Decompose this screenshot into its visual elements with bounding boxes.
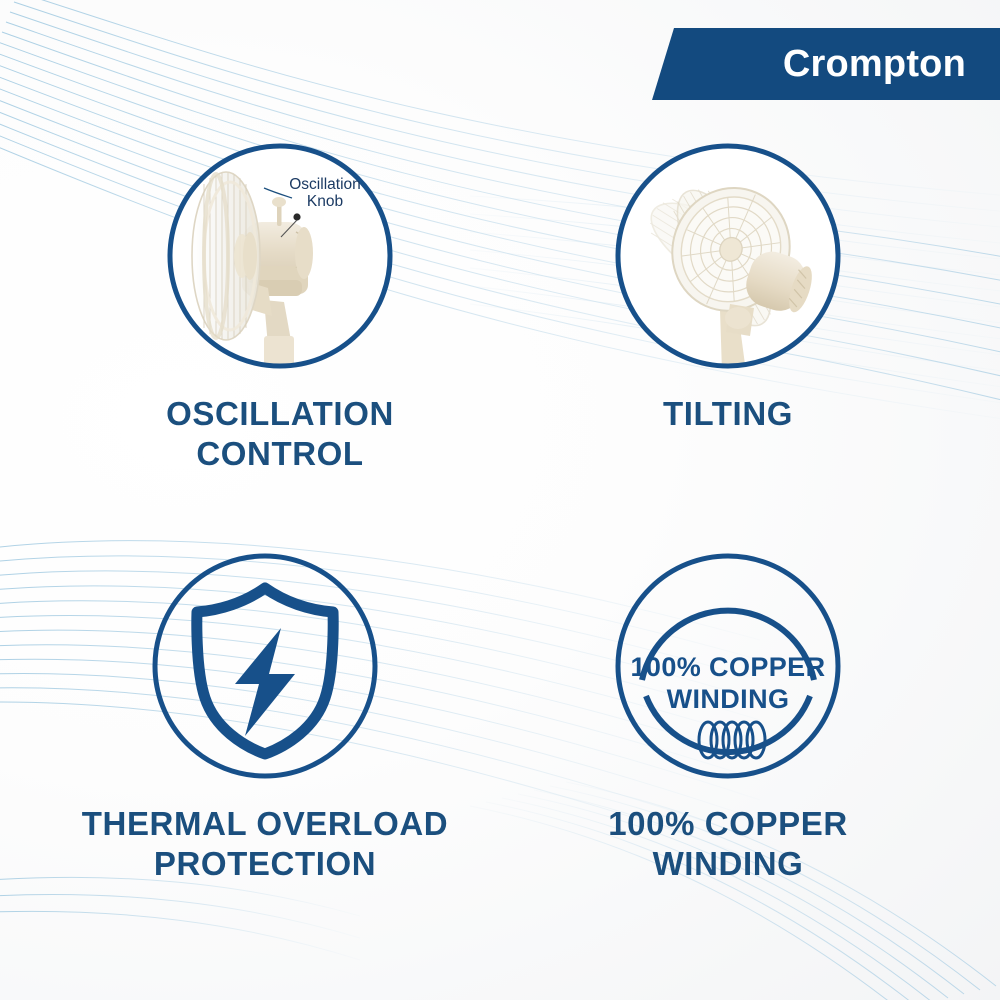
feature-caption: TILTING	[478, 394, 978, 434]
fan-tilt-positions-photo	[612, 140, 844, 372]
bolt-icon	[235, 628, 295, 736]
feature-caption: THERMAL OVERLOAD PROTECTION	[15, 804, 515, 885]
product-feature-infographic: Crompton	[0, 0, 1000, 1000]
feature-thermal-overload-protection: THERMAL OVERLOAD PROTECTION	[15, 550, 515, 885]
fan-side-view-photo	[164, 140, 396, 372]
feature-tilting: TILTING	[478, 140, 978, 434]
feature-oscillation-control: Oscillation Knob OSCILLATION CONTROL	[30, 140, 530, 475]
oscillation-control-icon: Oscillation Knob	[164, 140, 396, 372]
copper-winding-icon: 100% COPPER WINDING	[612, 550, 844, 782]
oscillation-knob-label: Oscillation Knob	[260, 176, 390, 211]
feature-caption: 100% COPPER WINDING	[478, 804, 978, 885]
tilting-icon	[612, 140, 844, 372]
feature-copper-winding: 100% COPPER WINDING 100% COPPER WINDING	[478, 550, 978, 885]
brand-name: Crompton	[652, 28, 1000, 100]
badge-line-1: 100% COPPER	[631, 652, 826, 682]
thermal-overload-icon	[149, 550, 381, 782]
badge-line-2: WINDING	[667, 684, 790, 714]
feature-grid: Oscillation Knob OSCILLATION CONTROL	[0, 140, 1000, 960]
feature-caption: OSCILLATION CONTROL	[30, 394, 530, 475]
brand-banner: Crompton	[652, 28, 1000, 100]
